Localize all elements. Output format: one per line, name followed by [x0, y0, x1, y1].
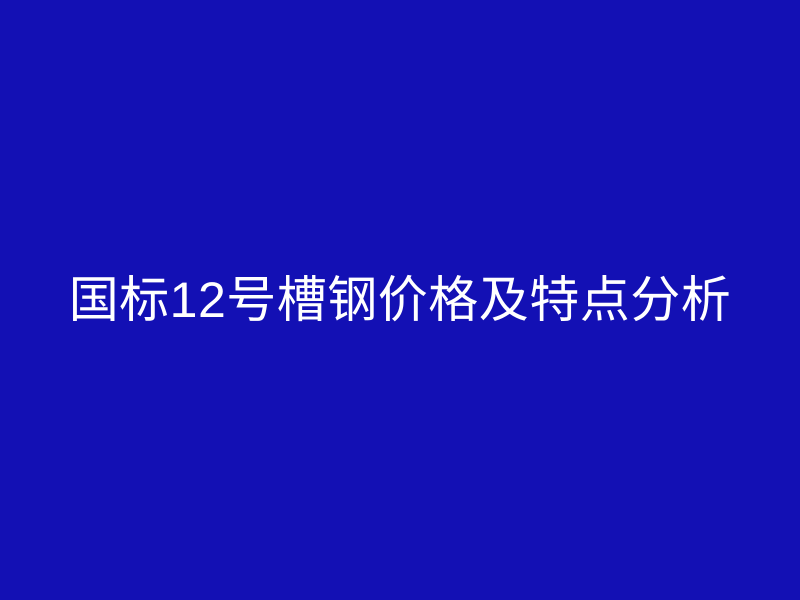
title-block: 国标12号槽钢价格及特点分析: [0, 273, 800, 327]
slide-canvas: 国标12号槽钢价格及特点分析: [0, 0, 800, 600]
page-title: 国标12号槽钢价格及特点分析: [24, 273, 776, 327]
